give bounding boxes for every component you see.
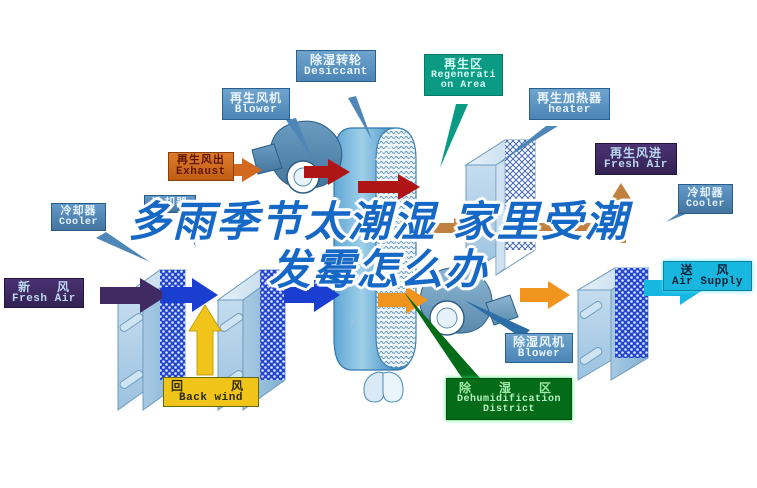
process-air-arrow-2 <box>284 278 340 312</box>
label-regeneration-blower-en: Blower <box>230 105 282 117</box>
label-cooler-mid: 冷却器 <box>144 195 196 213</box>
label-cooler-right-en: Cooler <box>686 200 725 211</box>
fresh-air-to-heater-line <box>536 223 626 231</box>
label-dehumidification-blower: 除湿风机 Blower <box>505 333 573 363</box>
back-wind-arrow <box>189 305 221 375</box>
schematic-drawing <box>0 0 757 488</box>
label-dehumidification-blower-en: Blower <box>513 349 565 361</box>
label-exhaust-cn: 再生风出 <box>176 155 226 167</box>
label-cooler-mid-cn: 冷却器 <box>152 198 188 210</box>
label-regeneration-heater-en: heater <box>537 105 602 117</box>
label-regeneration-area: 再生区 Regenerati on Area <box>424 54 503 96</box>
label-desiccant-wheel: 除湿转轮 Desiccant <box>296 50 376 82</box>
label-cooler-left-cn: 冷却器 <box>59 206 98 218</box>
label-regeneration-fresh-air-in: 再生风进 Fresh Air <box>595 143 677 175</box>
label-regeneration-fresh-air-in-cn: 再生风进 <box>604 147 668 160</box>
label-air-supply: 送 风 Air Supply <box>663 261 752 291</box>
desiccant-rotor <box>334 128 416 402</box>
label-cooler-left-en: Cooler <box>59 218 98 229</box>
label-regeneration-area-en-2: on Area <box>431 81 496 92</box>
label-cooler-right: 冷却器 Cooler <box>678 184 733 214</box>
label-air-supply-en: Air Supply <box>672 277 743 289</box>
label-regeneration-heater-cn: 再生加热器 <box>537 92 602 105</box>
label-back-wind-en: Back wind <box>171 393 251 405</box>
label-regeneration-heater: 再生加热器 heater <box>529 88 610 120</box>
dry-air-arrow-2 <box>520 281 570 309</box>
fresh-air-riser-arrow <box>611 183 631 243</box>
supply-filter-unit <box>578 268 648 380</box>
label-cooler-left: 冷却器 Cooler <box>51 203 106 231</box>
label-back-wind: 回 风 Back wind <box>163 377 259 407</box>
label-fresh-air-in-en: Fresh Air <box>12 294 76 306</box>
watermark-text: XT <box>350 318 361 328</box>
regeneration-heater-unit <box>466 140 535 275</box>
label-exhaust-en: Exhaust <box>176 167 226 179</box>
label-fresh-air-in: 新 风 Fresh Air <box>4 278 84 308</box>
label-dehumidification-district-cn: 除 湿 区 <box>457 382 561 395</box>
label-desiccant-wheel-cn: 除湿转轮 <box>304 54 368 67</box>
heater-inlet-arrow <box>422 218 470 238</box>
label-regeneration-blower: 再生风机 Blower <box>222 88 290 120</box>
dehumidifier-schematic-image: 除湿转轮 Desiccant 再生风机 Blower 再生区 Regenerat… <box>0 0 757 488</box>
label-fresh-air-in-cn: 新 风 <box>12 281 76 294</box>
label-cooler-right-cn: 冷却器 <box>686 188 725 200</box>
label-dehumidification-blower-cn: 除湿风机 <box>513 336 565 349</box>
label-exhaust: 再生风出 Exhaust <box>168 152 234 181</box>
label-air-supply-cn: 送 风 <box>672 264 743 277</box>
label-dehumidification-district-en-2: District <box>457 405 561 416</box>
label-regeneration-fresh-air-in-en: Fresh Air <box>604 160 668 172</box>
label-back-wind-cn: 回 风 <box>171 380 251 393</box>
label-dehumidification-district: 除 湿 区 Dehumidification District <box>446 378 572 420</box>
label-regeneration-blower-cn: 再生风机 <box>230 92 282 105</box>
label-desiccant-wheel-en: Desiccant <box>304 67 368 79</box>
label-regeneration-area-cn: 再生区 <box>431 58 496 71</box>
